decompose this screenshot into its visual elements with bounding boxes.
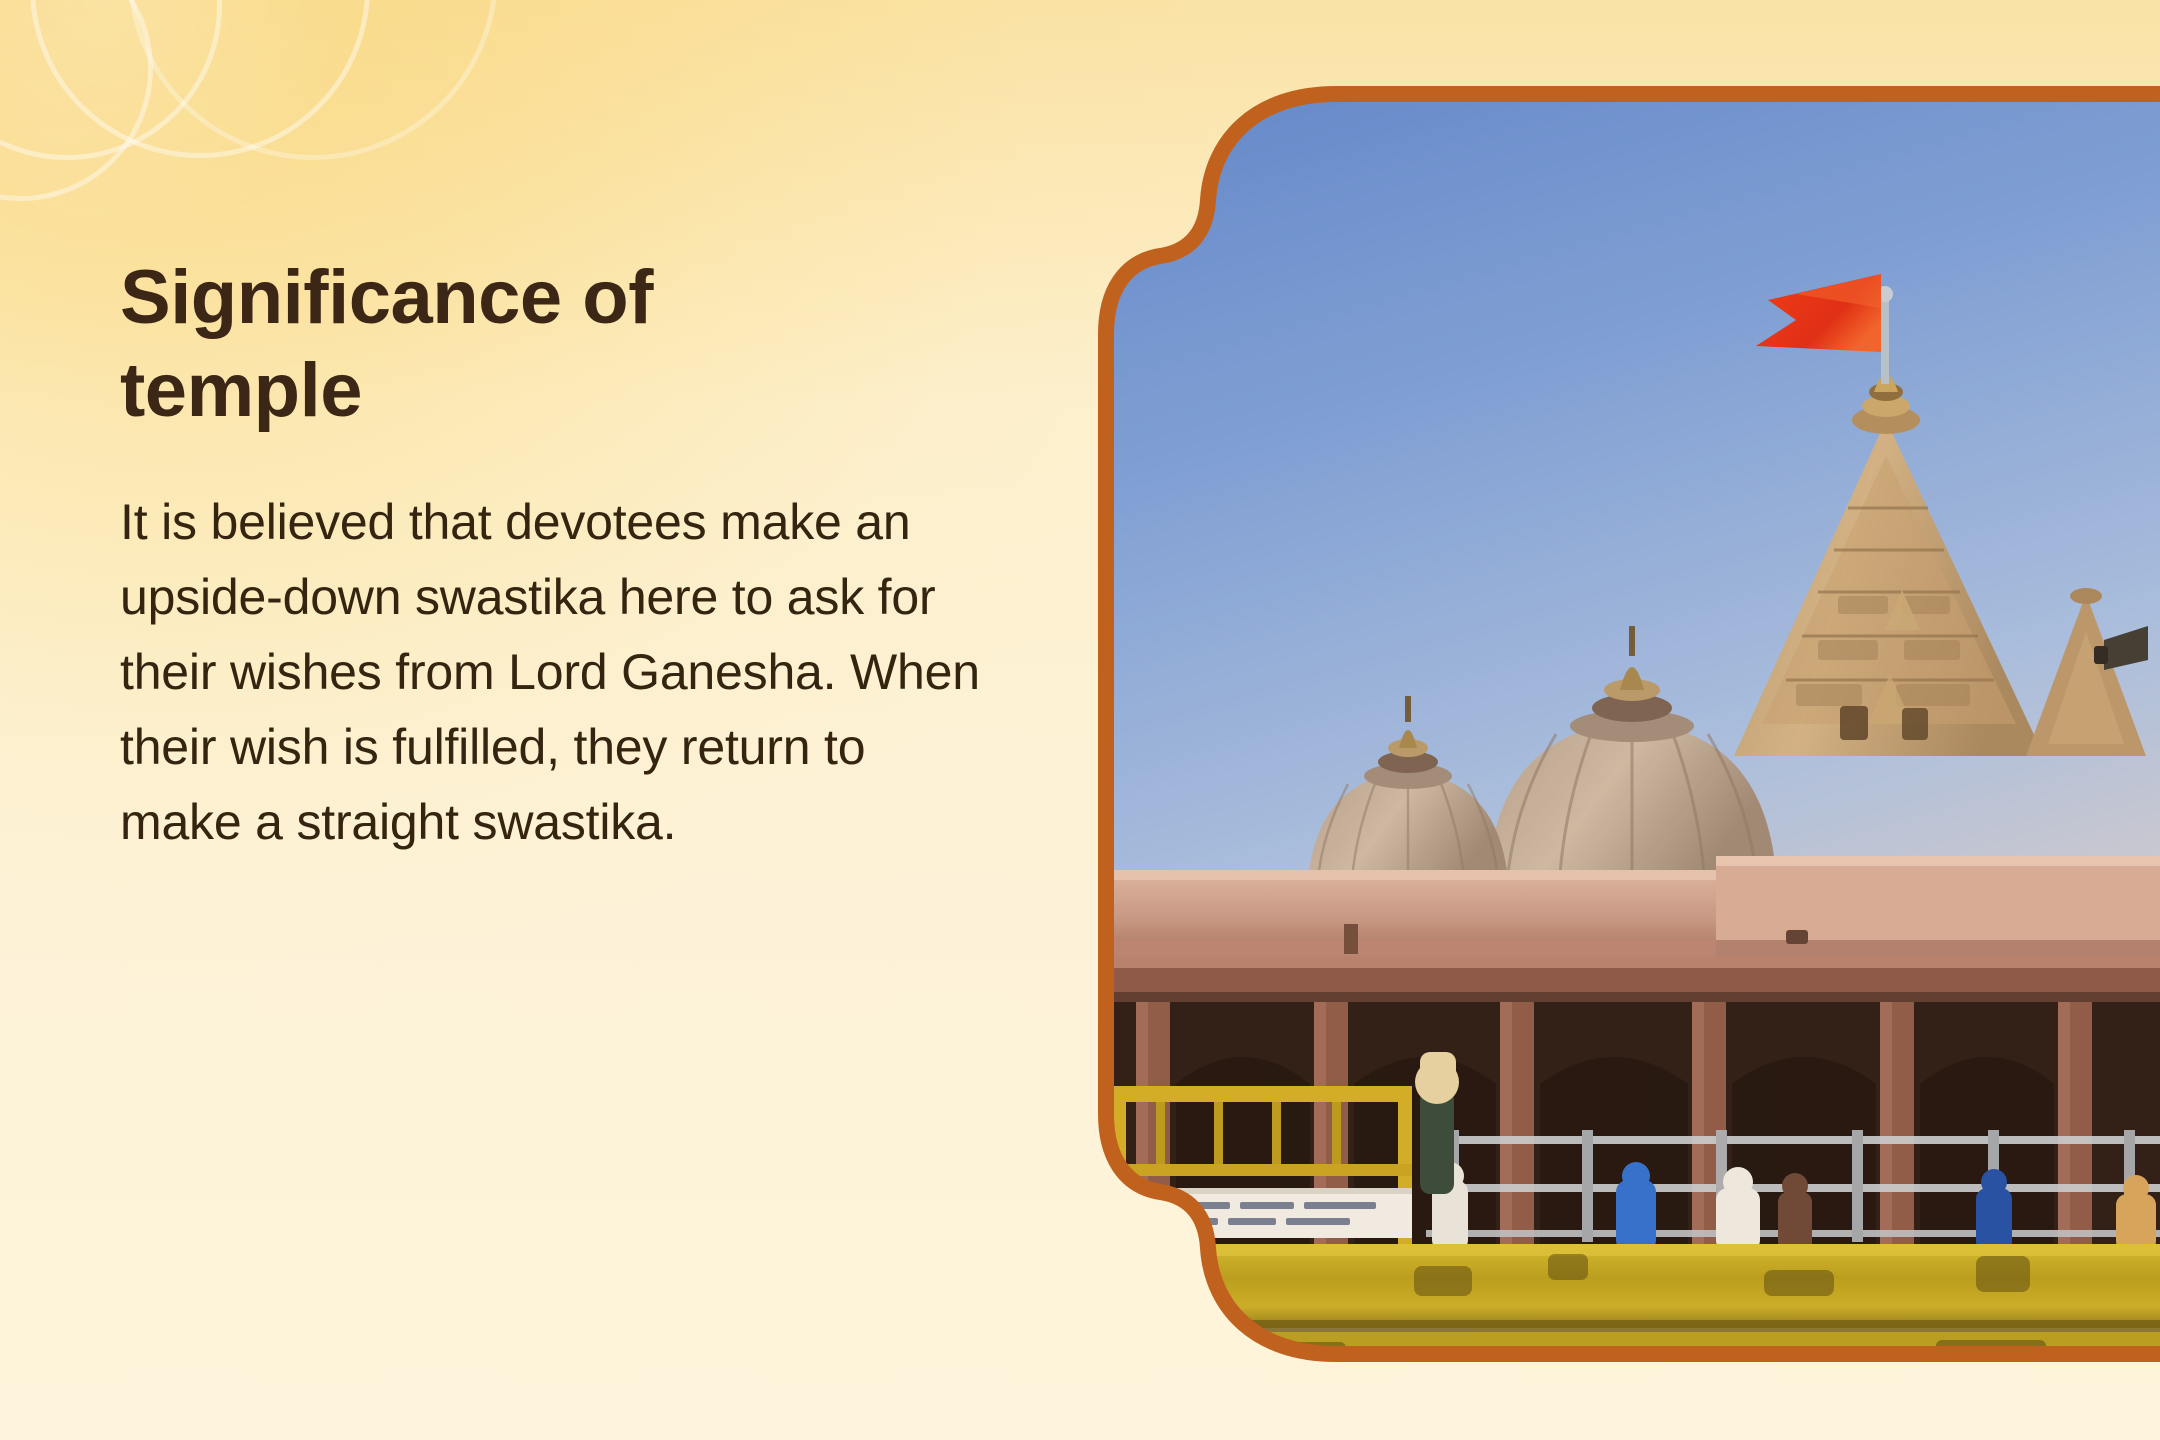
- text-column: Significance of temple It is believed th…: [120, 252, 1020, 860]
- photo-frame-svg: [1096, 84, 2160, 1364]
- temple-photograph: [1096, 84, 2160, 1364]
- body-paragraph: It is believed that devotees make an ups…: [120, 437, 1000, 860]
- slide-canvas: Significance of temple It is believed th…: [0, 0, 2160, 1440]
- temple-photo-frame: [1096, 84, 2160, 1364]
- page-title: Significance of temple: [120, 252, 780, 437]
